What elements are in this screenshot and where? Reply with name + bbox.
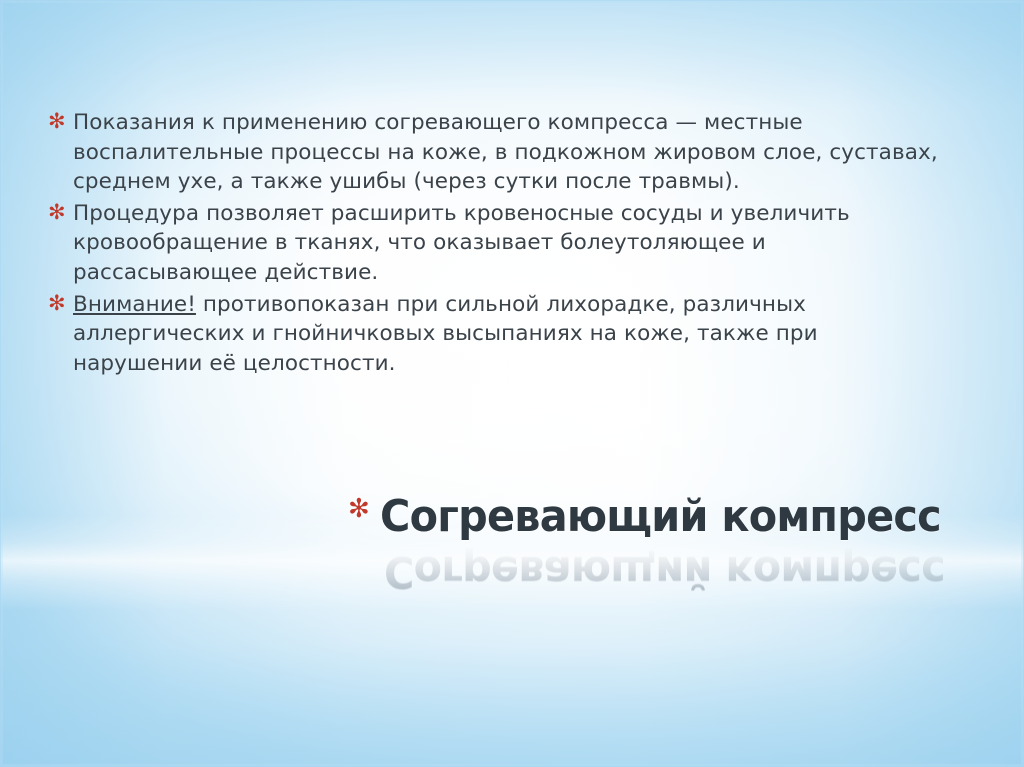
asterisk-title-icon: ✻: [348, 496, 370, 522]
slide-canvas: ✻Показания к применению согревающего ком…: [0, 0, 1024, 767]
warning-lead: Внимание!: [73, 292, 196, 317]
asterisk-bullet-icon: ✻: [48, 109, 66, 133]
slide-title-reflection: Согревающий компресс: [384, 546, 984, 602]
page-title: Согревающий компресс: [380, 492, 941, 542]
list-item-text: Процедура позволяет расширить кровеносны…: [73, 201, 850, 285]
list-item: ✻Показания к применению согревающего ком…: [46, 108, 951, 197]
list-item: ✻Процедура позволяет расширить кровеносн…: [46, 199, 951, 288]
slide-title-block: ✻ Согревающий компресс Согревающий компр…: [348, 492, 968, 612]
list-item: ✻Внимание! противопоказан при сильной ли…: [46, 290, 951, 379]
slide-title-row: ✻ Согревающий компресс: [348, 492, 968, 542]
list-item-text: Показания к применению согревающего комп…: [73, 110, 938, 194]
page-title-mirror: Согревающий компресс: [384, 546, 945, 596]
asterisk-bullet-icon: ✻: [48, 291, 66, 315]
asterisk-bullet-icon: ✻: [48, 200, 66, 224]
bullet-list: ✻Показания к применению согревающего ком…: [46, 108, 951, 380]
